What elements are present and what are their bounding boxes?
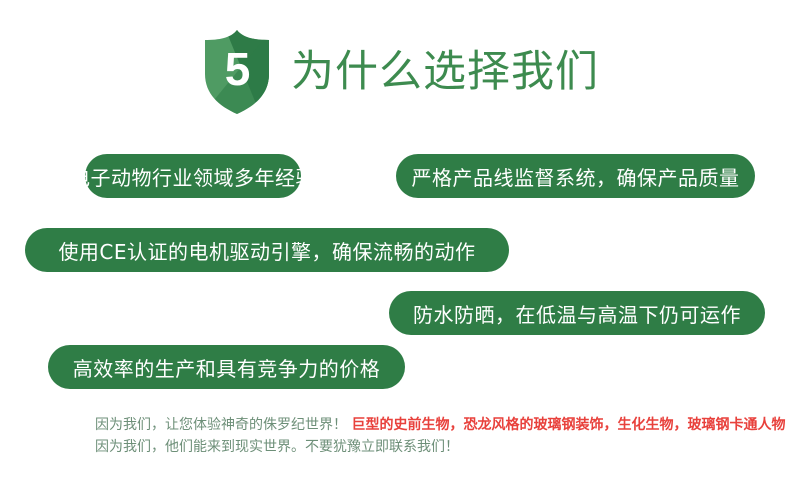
feature-pill-3: 使用CE认证的电机驱动引擎，确保流畅的动作 bbox=[25, 228, 509, 272]
feature-list: 电子动物行业领域多年经验 严格产品线监督系统，确保产品质量 使用CE认证的电机驱… bbox=[0, 148, 800, 398]
page-header: 5 为什么选择我们 bbox=[0, 22, 800, 122]
feature-pill-2: 严格产品线监督系统，确保产品质量 bbox=[396, 154, 755, 198]
footer-line-1: 因为我们，让您体验神奇的侏罗纪世界！ 巨型的史前生物，恐龙风格的玻璃钢装饰，生化… bbox=[95, 414, 755, 436]
feature-pill-5: 高效率的生产和具有竞争力的价格 bbox=[48, 345, 405, 389]
shield-badge: 5 bbox=[201, 28, 273, 116]
footer-line-1-highlight: 巨型的史前生物，恐龙风格的玻璃钢装饰，生化生物，玻璃钢卡通人物 bbox=[351, 417, 785, 433]
feature-pill-4: 防水防晒，在低温与高温下仍可运作 bbox=[389, 291, 765, 335]
footer-line-2: 因为我们，他们能来到现实世界。不要犹豫立即联系我们！ bbox=[95, 436, 755, 458]
page-title: 为什么选择我们 bbox=[291, 51, 599, 94]
badge-number: 5 bbox=[201, 28, 273, 116]
feature-pill-1: 电子动物行业领域多年经验 bbox=[85, 154, 301, 198]
footer-line-1-lead: 因为我们，让您体验神奇的侏罗纪世界！ bbox=[95, 417, 351, 433]
footer-paragraph: 因为我们，让您体验神奇的侏罗纪世界！ 巨型的史前生物，恐龙风格的玻璃钢装饰，生化… bbox=[95, 414, 755, 458]
